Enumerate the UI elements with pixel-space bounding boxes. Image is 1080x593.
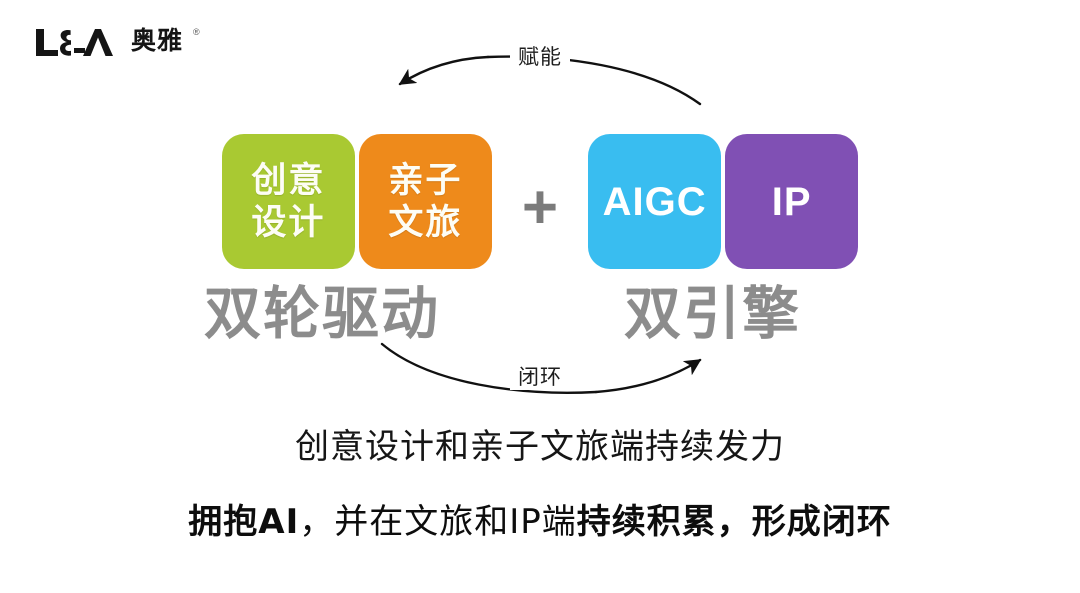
landscape-ampersand-logo-icon [34,26,122,58]
block-creative-design[interactable]: 创意 设计 [222,134,355,269]
logo-chinese-name: 奥雅 [131,27,183,55]
caption-line-1: 创意设计和亲子文旅端持续发力 [0,424,1080,470]
block-label-line2: 设计 [251,202,325,244]
dual-wheel-block-pair: 创意 设计 亲子 文旅 [222,134,492,269]
caption-line-2: 拥抱AI，并在文旅和IP端持续积累，形成闭环 [0,498,1080,546]
block-parent-child-tourism[interactable]: 亲子 文旅 [359,134,492,269]
caption-2-normal-part: ，并在文旅和IP端 [299,502,577,542]
plus-operator-icon: + [522,177,558,239]
bottom-arrow-label: 闭环 [510,364,570,390]
top-arrow-label: 赋能 [510,44,570,70]
heading-dual-wheel-drive: 双轮驱动 [204,282,440,346]
block-aigc[interactable]: AIGC [588,134,721,269]
block-label-line1: 创意 [251,160,325,202]
block-label-line1: 亲子 [388,160,462,202]
slide-canvas: 奥雅 ® 赋能 闭环 创意 设计 [0,0,1080,593]
block-ip[interactable]: IP [725,134,858,269]
block-label-line2: 文旅 [388,202,462,244]
registered-trademark-icon: ® [193,28,200,37]
heading-dual-engine: 双引擎 [624,282,801,346]
caption-2-bold-part-2: 持续积累，形成闭环 [577,502,892,542]
dual-engine-block-pair: AIGC IP [588,134,858,269]
block-label-line1: AIGC [603,179,707,225]
strategy-blocks-row: 创意 设计 亲子 文旅 + AIGC IP [0,134,1080,269]
headings-row: 双轮驱动 双引擎 [0,282,1080,346]
caption-2-bold-part-1: 拥抱AI [188,502,299,542]
block-label-line1: IP [772,179,812,225]
brand-logo: 奥雅 ® [34,26,199,60]
